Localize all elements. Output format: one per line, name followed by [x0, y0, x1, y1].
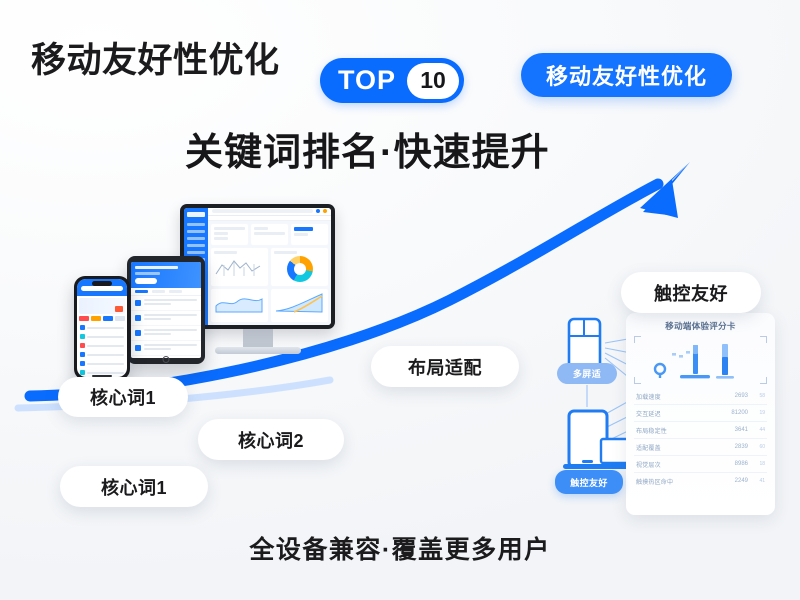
tab-item — [169, 290, 182, 293]
hero-title-line — [135, 266, 178, 269]
dashboard-search-input — [212, 209, 313, 213]
dashboard-avatar — [316, 209, 320, 213]
dashboard-action-card — [291, 224, 328, 245]
phone-chip-row — [77, 316, 127, 323]
table-row: 交互延迟 81200 19 — [634, 405, 767, 422]
text-line — [144, 314, 197, 316]
hero-cta-button — [135, 278, 157, 284]
status-badge: 移动友好性优化 — [521, 53, 732, 97]
promo-badge — [115, 306, 123, 312]
top-rank-badge: TOP 10 — [320, 58, 464, 103]
page-title: 移动友好性优化 — [31, 32, 280, 83]
hero-subtitle-line — [135, 272, 160, 275]
dashboard-chart-row — [211, 248, 328, 286]
row-delta: 58 — [752, 393, 765, 399]
list-item-icon — [135, 345, 141, 351]
multiscreen-tag: 多屏适 — [557, 363, 617, 384]
text-line — [87, 372, 124, 374]
chip-item — [91, 316, 101, 321]
card-line — [214, 251, 237, 254]
touch-friendly-tag: 触控友好 — [555, 470, 623, 494]
touch-friendly-pill: 触控友好 — [621, 272, 761, 313]
row-delta: 60 — [752, 444, 765, 450]
tablet-bezel — [127, 256, 205, 364]
row-value: 8986 — [726, 461, 748, 467]
sidebar-nav-item — [187, 223, 205, 226]
list-item-icon — [80, 370, 85, 375]
list-item — [131, 296, 201, 311]
phone-notch — [92, 281, 112, 286]
dashboard-funnel-chart-card — [271, 289, 328, 322]
text-line — [144, 344, 197, 346]
score-card-chart — [634, 336, 767, 384]
bar-chart-icon — [650, 342, 750, 380]
tablet-hero-banner — [131, 262, 201, 288]
frame-corner — [634, 377, 641, 384]
dashboard-main — [208, 208, 331, 325]
tablet-home-button — [163, 356, 170, 363]
sidebar-nav-item — [187, 230, 205, 233]
phone-search-input — [81, 286, 123, 291]
row-metric: 交互延迟 — [636, 409, 722, 418]
list-item — [131, 311, 201, 326]
list-item-text — [144, 314, 197, 322]
device-mockup-group — [22, 198, 352, 378]
table-row: 布局稳定性 3641 44 — [634, 422, 767, 439]
tablet-screen — [131, 262, 201, 358]
table-row: 视觉层次 8986 18 — [634, 456, 767, 473]
text-line — [144, 329, 197, 331]
card-line — [214, 232, 228, 235]
layout-adaptation-pill: 布局适配 — [371, 346, 519, 387]
dashboard-bar-chart-card — [211, 248, 268, 286]
poster-canvas: 移动友好性优化 TOP 10 移动友好性优化 关键词排名·快速提升 — [0, 0, 800, 600]
chip-item — [103, 316, 113, 321]
phone-promo-card — [79, 298, 125, 314]
card-line — [214, 237, 228, 240]
area-chart-icon — [214, 292, 264, 314]
list-item-icon — [80, 325, 85, 330]
row-metric: 触摸热区命中 — [636, 477, 722, 486]
row-value: 81200 — [726, 410, 748, 416]
tablet-tab-bar — [131, 288, 201, 296]
list-item-icon — [80, 343, 85, 348]
keyword-pill-1: 核心词1 — [58, 377, 188, 417]
top-badge-number: 10 — [407, 63, 459, 99]
list-item — [131, 326, 201, 341]
text-line — [87, 336, 124, 338]
row-value: 2693 — [726, 393, 748, 399]
phone-mockup — [74, 276, 130, 380]
text-line — [87, 327, 124, 329]
card-primary-button — [294, 227, 313, 231]
mobile-experience-illustration: 移动端体验评分卡 — [553, 303, 775, 517]
row-value: 3641 — [726, 427, 748, 433]
dashboard-body — [208, 221, 331, 325]
funnel-chart-icon — [274, 292, 324, 314]
card-line — [294, 233, 308, 236]
row-delta: 19 — [752, 410, 765, 416]
card-line — [214, 227, 245, 230]
phone-list-item — [77, 332, 127, 341]
phone-list-item — [77, 341, 127, 350]
phone-screen — [77, 279, 127, 377]
list-item-text — [144, 344, 197, 352]
text-line — [144, 348, 171, 350]
score-card-title: 移动端体验评分卡 — [634, 320, 767, 332]
row-value: 2839 — [726, 444, 748, 450]
dashboard-card-row — [211, 224, 328, 245]
dashboard-filter-card — [211, 224, 248, 245]
frame-corner — [634, 336, 641, 343]
monitor-screen — [184, 208, 331, 325]
sidebar-nav-item — [187, 244, 205, 247]
dashboard-topbar — [208, 208, 331, 216]
top-badge-label: TOP — [338, 65, 407, 96]
frame-corner — [760, 336, 767, 343]
row-value: 2249 — [726, 478, 748, 484]
dashboard-area-row — [211, 289, 328, 322]
text-line — [144, 303, 171, 305]
row-delta: 44 — [752, 427, 765, 433]
tab-item — [152, 290, 165, 293]
monitor-stand — [243, 327, 273, 349]
donut-chart-icon — [287, 256, 313, 282]
dashboard-stat-card — [251, 224, 288, 245]
tablet-mockup — [127, 256, 205, 364]
table-row: 适配覆盖 2839 60 — [634, 439, 767, 456]
tab-active — [135, 290, 148, 293]
row-delta: 18 — [752, 461, 765, 467]
sidebar-nav-item — [187, 251, 205, 254]
frame-corner — [760, 377, 767, 384]
chip-item — [115, 316, 125, 321]
phone-bezel — [74, 276, 130, 380]
score-table: 加载速度 2693 58 交互延迟 81200 19 布局稳定性 3641 44… — [634, 388, 767, 489]
list-item-icon — [80, 361, 85, 366]
table-row: 加载速度 2693 58 — [634, 388, 767, 405]
text-line — [144, 299, 197, 301]
list-item-text — [144, 299, 197, 307]
table-row: 触摸热区命中 2249 41 — [634, 473, 767, 489]
dashboard-notification-icon — [323, 209, 327, 213]
row-metric: 视觉层次 — [636, 460, 722, 469]
bar-chart-icon — [214, 256, 264, 278]
list-item-text — [144, 329, 197, 337]
phone-list-item — [77, 323, 127, 332]
list-item — [131, 341, 201, 356]
keyword-pill-2: 核心词2 — [198, 419, 344, 460]
chip-item — [79, 316, 89, 321]
card-line — [274, 251, 297, 254]
sidebar-nav-item — [187, 237, 205, 240]
text-line — [144, 318, 171, 320]
score-card: 移动端体验评分卡 — [626, 313, 775, 515]
text-line — [87, 363, 124, 365]
phone-list-item — [77, 350, 127, 359]
list-item-icon — [135, 300, 141, 306]
dashboard-area-chart-card — [211, 289, 268, 322]
list-item-icon — [135, 315, 141, 321]
row-metric: 加载速度 — [636, 392, 722, 401]
phone-list-item — [77, 359, 127, 368]
monitor-base — [215, 347, 301, 354]
footer-tagline: 全设备兼容·覆盖更多用户 — [0, 530, 800, 566]
row-metric: 适配覆盖 — [636, 443, 722, 452]
card-line — [254, 232, 285, 235]
dashboard-logo — [187, 212, 205, 217]
row-metric: 布局稳定性 — [636, 426, 722, 435]
list-item-icon — [80, 352, 85, 357]
keyword-pill-3: 核心词1 — [60, 466, 208, 507]
row-delta: 41 — [752, 478, 765, 484]
list-item-icon — [80, 334, 85, 339]
text-line — [144, 333, 171, 335]
text-line — [87, 354, 124, 356]
text-line — [87, 345, 124, 347]
dashboard-donut-chart-card — [271, 248, 328, 286]
list-item-icon — [135, 330, 141, 336]
card-line — [254, 227, 268, 230]
